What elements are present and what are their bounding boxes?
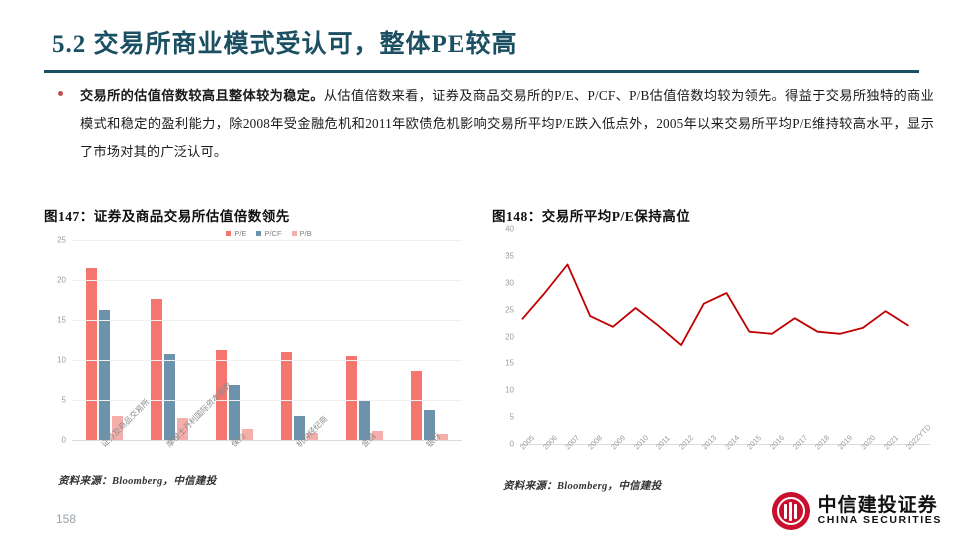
gridline	[72, 280, 462, 281]
logo-text: 中信建投证券 CHINA SECURITIES	[818, 496, 942, 527]
y-tick-label: 25	[57, 236, 66, 245]
y-tick-label: 10	[505, 386, 514, 395]
bar-pcf	[99, 310, 110, 440]
y-tick-label: 15	[505, 359, 514, 368]
y-tick-label: 0	[510, 440, 514, 449]
y-tick-label: 20	[505, 332, 514, 341]
legend-label: P/E	[234, 229, 246, 238]
page-number: 158	[56, 512, 76, 526]
y-tick-label: 20	[57, 276, 66, 285]
legend-item-pcf: P/CF	[256, 229, 281, 238]
y-tick-label: 10	[57, 356, 66, 365]
y-tick-label: 5	[510, 413, 514, 422]
figure-148-source: 资料来源：Bloomberg，中信建投	[503, 478, 662, 493]
bar-chart-y-axis: 0510152025	[44, 240, 70, 440]
legend-label: P/CF	[264, 229, 281, 238]
title-divider	[44, 70, 919, 73]
bar-pe	[411, 371, 422, 440]
figure-147-source: 资料来源：Bloomberg，中信建投	[58, 473, 217, 488]
bar-group	[281, 240, 318, 440]
gridline	[72, 320, 462, 321]
citic-emblem-icon	[772, 492, 810, 530]
legend-item-pb: P/B	[292, 229, 312, 238]
y-tick-label: 0	[62, 436, 66, 445]
bullet-dot-icon	[58, 91, 63, 96]
gridline	[72, 400, 462, 401]
bullet-paragraph: 交易所的估值倍数较高且整体较为稳定。从估值倍数来看，证券及商品交易所的P/E、P…	[44, 82, 934, 166]
bar-pe	[346, 356, 357, 440]
bar-group	[411, 240, 448, 440]
logo-name-en: CHINA SECURITIES	[818, 515, 942, 526]
page-title: 5.2 交易所商业模式受认可，整体PE较高	[52, 24, 517, 60]
bar-chart-legend: P/EP/CFP/B	[44, 229, 464, 238]
bar-pcf	[164, 354, 175, 440]
gridline	[72, 360, 462, 361]
right-chart-panel: 图148：交易所平均P/E保持高位 0510152025303540 20052…	[492, 205, 932, 495]
y-tick-label: 25	[505, 305, 514, 314]
legend-swatch-icon	[226, 231, 231, 236]
line-chart-plot: 0510152025303540	[492, 229, 932, 444]
legend-label: P/B	[300, 229, 312, 238]
legend-item-pe: P/E	[226, 229, 246, 238]
y-tick-label: 5	[62, 396, 66, 405]
figure-147-title: 图147：证券及商品交易所估值倍数领先	[44, 205, 464, 225]
bar-group	[86, 240, 123, 440]
bar-group	[151, 240, 188, 440]
bar-chart-plot: 0510152025	[44, 240, 464, 440]
line-series-svg	[520, 229, 920, 444]
y-tick-label: 30	[505, 278, 514, 287]
y-tick-label: 35	[505, 251, 514, 260]
line-series-path	[522, 265, 908, 346]
logo-name-cn: 中信建投证券	[818, 496, 942, 516]
company-logo: 中信建投证券 CHINA SECURITIES	[772, 492, 942, 530]
y-tick-label: 40	[505, 225, 514, 234]
bar-group	[346, 240, 383, 440]
left-chart-panel: 图147：证券及商品交易所估值倍数领先 P/EP/CFP/B 051015202…	[44, 205, 464, 495]
legend-swatch-icon	[256, 231, 261, 236]
bar-group	[216, 240, 253, 440]
gridline	[72, 240, 462, 241]
bullet-lead: 交易所的估值倍数较高且整体较为稳定。	[80, 88, 324, 103]
bar-pe	[281, 352, 292, 440]
bar-pe	[86, 268, 97, 440]
line-chart-y-axis: 0510152025303540	[492, 229, 518, 444]
y-tick-label: 15	[57, 316, 66, 325]
figure-148-title: 图148：交易所平均P/E保持高位	[492, 205, 932, 225]
legend-swatch-icon	[292, 231, 297, 236]
bullet-text: 交易所的估值倍数较高且整体较为稳定。从估值倍数来看，证券及商品交易所的P/E、P…	[80, 82, 934, 166]
